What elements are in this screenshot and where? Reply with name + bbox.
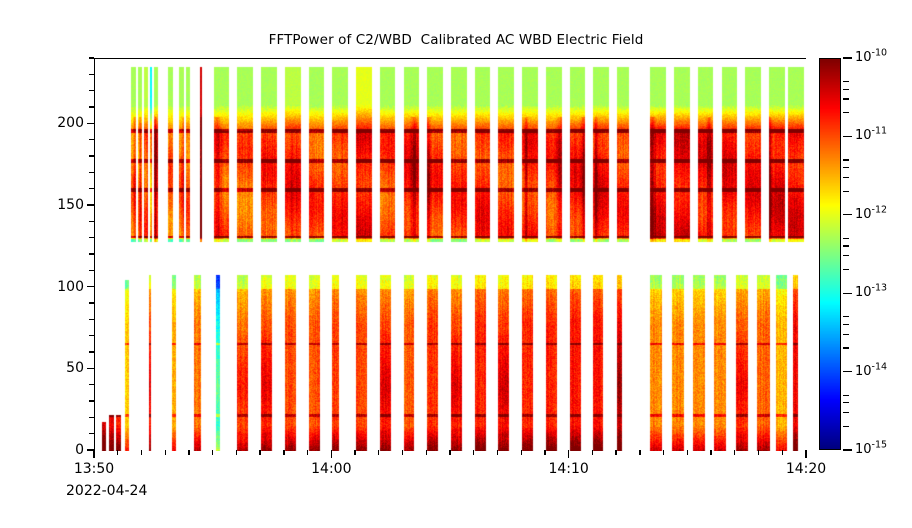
colorbar-tick [843,57,852,58]
y-axis-minor-tick [89,221,94,222]
x-axis-minor-tick [141,450,142,455]
colorbar-minor-tick [843,177,849,178]
y-axis-minor-tick [89,351,94,352]
y-axis-minor-tick [89,400,94,401]
x-axis-minor-tick [426,450,427,455]
x-axis-minor-tick [117,450,118,455]
colorbar-tick [843,293,852,294]
x-axis-minor-tick [236,450,237,455]
plot-area [94,58,806,450]
colorbar-minor-tick [843,402,849,403]
y-axis-minor-tick [89,155,94,156]
colorbar-tick [843,214,852,215]
x-axis-minor-tick [639,450,640,455]
y-axis-minor-tick [89,139,94,140]
y-axis-minor-tick [89,384,94,385]
colorbar-tick-label: 10-10 [855,51,887,64]
colorbar-minor-tick [843,89,849,90]
x-axis-minor-tick [687,450,688,455]
colorbar-minor-tick [843,324,849,325]
colorbar-minor-tick [843,238,849,239]
x-axis-tick-label: 14:00 [291,462,371,476]
x-axis-minor-tick [188,450,189,455]
colorbar-tick-label: 10-13 [855,286,887,299]
colorbar-minor-tick [843,167,849,168]
x-axis-minor-tick [283,450,284,455]
colorbar-tick-label: 10-11 [855,129,887,142]
x-axis-minor-tick [758,450,759,455]
colorbar-tick [843,371,852,372]
y-axis-tick-label: 200 [57,116,84,130]
colorbar-tick [843,136,852,137]
y-axis-tick [87,368,94,369]
colorbar-minor-tick [843,159,849,160]
colorbar-minor-tick [843,81,849,82]
y-axis-tick [87,204,94,205]
colorbar-minor-tick [843,112,849,113]
y-axis-minor-tick [89,335,94,336]
y-axis-minor-tick [89,106,94,107]
x-axis-minor-tick [497,450,498,455]
x-axis-minor-tick [615,450,616,455]
y-axis-tick-label: 50 [66,361,84,375]
x-axis-tick [805,450,806,458]
x-axis-minor-tick [544,450,545,455]
x-axis-minor-tick [592,450,593,455]
colorbar-tick-label: 10-15 [855,443,887,456]
colorbar-minor-tick [843,191,849,192]
x-axis-tick [331,450,332,458]
y-axis-minor-tick [89,90,94,91]
x-axis-tick [93,450,94,458]
x-axis-minor-tick [710,450,711,455]
x-axis-tick [568,450,569,458]
colorbar-tick-label: 10-12 [855,208,887,221]
colorbar-minor-tick [843,245,849,246]
y-axis-minor-tick [89,172,94,173]
y-axis-minor-tick [89,270,94,271]
x-axis-minor-tick [307,450,308,455]
y-axis-minor-tick [89,188,94,189]
x-axis-minor-tick [663,450,664,455]
spectrogram-figure: FFTPower of C2/WBD Calibrated AC WBD Ele… [0,0,912,528]
colorbar [819,58,841,450]
y-axis-minor-tick [89,57,94,58]
colorbar-tick [843,449,852,450]
y-axis-tick [87,286,94,287]
colorbar-minor-tick [843,269,849,270]
x-axis-minor-tick [521,450,522,455]
x-axis-minor-tick [212,450,213,455]
y-axis-minor-tick [89,74,94,75]
y-axis-minor-tick [89,253,94,254]
x-axis-minor-tick [734,450,735,455]
colorbar-minor-tick [843,334,849,335]
x-axis-minor-tick [473,450,474,455]
y-axis-minor-tick [89,302,94,303]
y-axis-tick-label: 100 [57,280,84,294]
x-axis-minor-tick [402,450,403,455]
x-axis-minor-tick [782,450,783,455]
colorbar-gradient [819,58,841,450]
colorbar-tick-label: 10-14 [855,365,887,378]
y-axis-minor-tick [89,417,94,418]
x-axis-tick-label: 14:20 [766,462,846,476]
y-axis-tick [87,123,94,124]
x-axis-tick-label: 13:50 [54,462,134,476]
colorbar-minor-tick [843,426,849,427]
colorbar-minor-tick [843,316,849,317]
x-axis-date-label: 2022-04-24 [66,483,147,499]
x-axis-minor-tick [259,450,260,455]
y-axis-minor-tick [89,237,94,238]
y-axis-minor-tick [89,319,94,320]
colorbar-minor-tick [843,347,849,348]
colorbar-minor-tick [843,98,849,99]
x-axis-minor-tick [378,450,379,455]
page-title: FFTPower of C2/WBD Calibrated AC WBD Ele… [0,32,912,48]
y-axis-minor-tick [89,433,94,434]
spectrogram-image [95,59,807,451]
y-axis-tick-label: 150 [57,198,84,212]
colorbar-minor-tick [843,412,849,413]
colorbar-minor-tick [843,255,849,256]
colorbar-minor-tick [843,395,849,396]
x-axis-tick-label: 14:10 [529,462,609,476]
x-axis-minor-tick [165,450,166,455]
x-axis-minor-tick [449,450,450,455]
x-axis-minor-tick [354,450,355,455]
y-axis-tick-label: 0 [75,443,84,457]
